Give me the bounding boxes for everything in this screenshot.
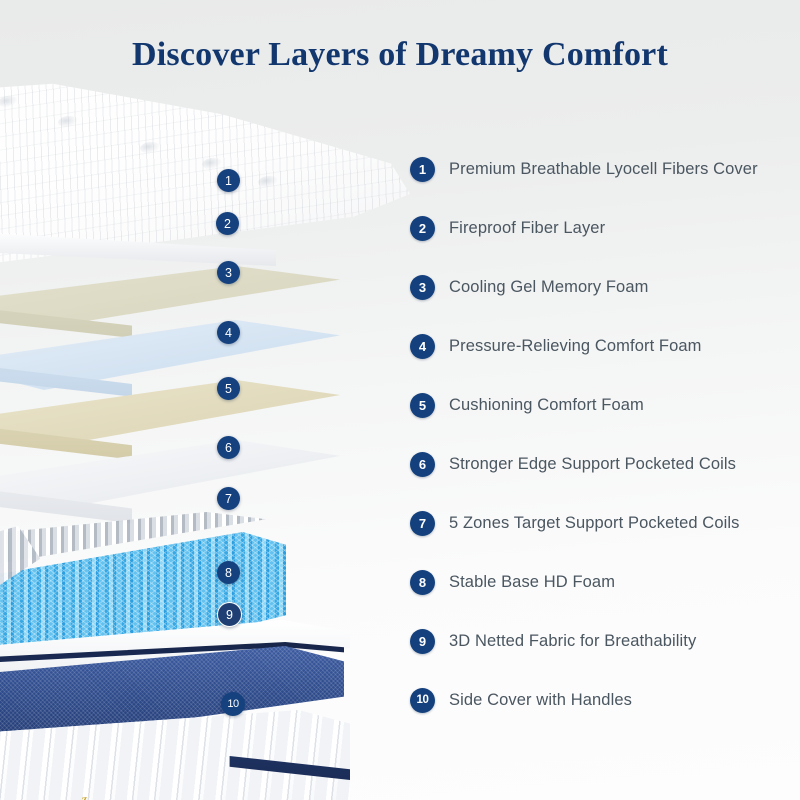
zzz-icon: zZ	[77, 796, 88, 800]
legend-badge-5: 5	[410, 393, 435, 418]
legend-badge-8: 8	[410, 570, 435, 595]
page-title: Discover Layers of Dreamy Comfort	[0, 36, 800, 74]
tuft-dimple	[0, 95, 19, 109]
legend-item-2[interactable]: 2 Fireproof Fiber Layer	[410, 215, 605, 241]
callout-badge-10[interactable]: 10	[221, 692, 245, 716]
legend-label-6: Stronger Edge Support Pocketed Coils	[449, 455, 736, 474]
legend-badge-7: 7	[410, 511, 435, 536]
callout-badge-6[interactable]: 6	[217, 436, 240, 459]
callout-badge-5[interactable]: 5	[217, 377, 240, 400]
legend-badge-2: 2	[410, 216, 435, 241]
legend-label-9: 3D Netted Fabric for Breathability	[449, 632, 696, 651]
legend-item-9[interactable]: 9 3D Netted Fabric for Breathability	[410, 628, 696, 654]
legend-item-5[interactable]: 5 Cushioning Comfort Foam	[410, 392, 644, 418]
legend-item-7[interactable]: 7 5 Zones Target Support Pocketed Coils	[410, 510, 739, 536]
legend-badge-6: 6	[410, 452, 435, 477]
legend-label-3: Cooling Gel Memory Foam	[449, 278, 648, 297]
legend-item-6[interactable]: 6 Stronger Edge Support Pocketed Coils	[410, 451, 736, 477]
callout-badge-3[interactable]: 3	[217, 261, 240, 284]
tuft-dimple	[201, 157, 222, 171]
legend-badge-1: 1	[410, 157, 435, 182]
legend-item-10[interactable]: 10 Side Cover with Handles	[410, 687, 632, 713]
legend-badge-10: 10	[410, 688, 435, 713]
mattress-cutaway-illustration: zZ Zoolovtress 1 2 3 4 5 6 7 8 9 10	[0, 80, 410, 780]
callout-badge-8[interactable]: 8	[217, 561, 240, 584]
legend-badge-4: 4	[410, 334, 435, 359]
legend-badge-3: 3	[410, 275, 435, 300]
legend-item-1[interactable]: 1 Premium Breathable Lyocell Fibers Cove…	[410, 156, 758, 182]
tuft-dimple	[57, 115, 78, 129]
tuft-dimple	[139, 141, 160, 155]
legend-label-2: Fireproof Fiber Layer	[449, 219, 605, 238]
legend-item-8[interactable]: 8 Stable Base HD Foam	[410, 569, 615, 595]
legend-label-7: 5 Zones Target Support Pocketed Coils	[449, 514, 739, 533]
legend-label-4: Pressure-Relieving Comfort Foam	[449, 337, 702, 356]
legend-label-5: Cushioning Comfort Foam	[449, 396, 644, 415]
product-infographic: Discover Layers of Dreamy Comfort	[0, 0, 800, 800]
tuft-dimple	[257, 175, 278, 189]
legend-label-8: Stable Base HD Foam	[449, 573, 615, 592]
legend-item-3[interactable]: 3 Cooling Gel Memory Foam	[410, 274, 648, 300]
legend-item-4[interactable]: 4 Pressure-Relieving Comfort Foam	[410, 333, 702, 359]
callout-badge-9[interactable]: 9	[217, 602, 242, 627]
legend-badge-9: 9	[410, 629, 435, 654]
callout-badge-1[interactable]: 1	[217, 169, 240, 192]
legend-label-10: Side Cover with Handles	[449, 691, 632, 710]
callout-badge-7[interactable]: 7	[217, 487, 240, 510]
callout-badge-2[interactable]: 2	[216, 212, 239, 235]
callout-badge-4[interactable]: 4	[217, 321, 240, 344]
legend-label-1: Premium Breathable Lyocell Fibers Cover	[449, 160, 758, 179]
